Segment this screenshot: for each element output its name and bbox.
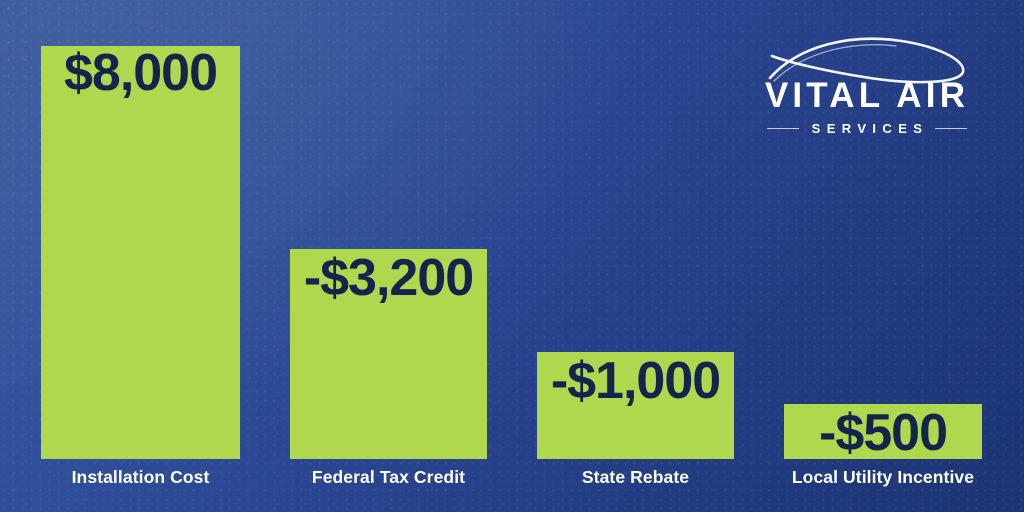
bar-group-federal-tax-credit: -$3,200 Federal Tax Credit xyxy=(290,0,487,512)
bar-category-label: Installation Cost xyxy=(72,467,210,488)
bar-category-label: State Rebate xyxy=(582,467,689,488)
bar-category-label: Local Utility Incentive xyxy=(792,467,974,488)
bar-rect xyxy=(41,46,240,459)
bar-group-state-rebate: -$1,000 State Rebate xyxy=(537,0,734,512)
bar-value-label: -$500 xyxy=(819,407,947,459)
bar-group-local-utility-incentive: -$500 Local Utility Incentive xyxy=(784,0,982,512)
bar-category-label: Federal Tax Credit xyxy=(312,467,465,488)
bar-chart: $8,000 Installation Cost -$3,200 Federal… xyxy=(0,0,1024,512)
bar-value-label: $8,000 xyxy=(64,47,217,99)
infographic-canvas: VITAL AIR SERVICES $8,000 Installation C… xyxy=(0,0,1024,512)
bar-group-installation-cost: $8,000 Installation Cost xyxy=(41,0,240,512)
bar-value-label: -$3,200 xyxy=(304,252,473,304)
bar-value-label: -$1,000 xyxy=(551,355,720,407)
